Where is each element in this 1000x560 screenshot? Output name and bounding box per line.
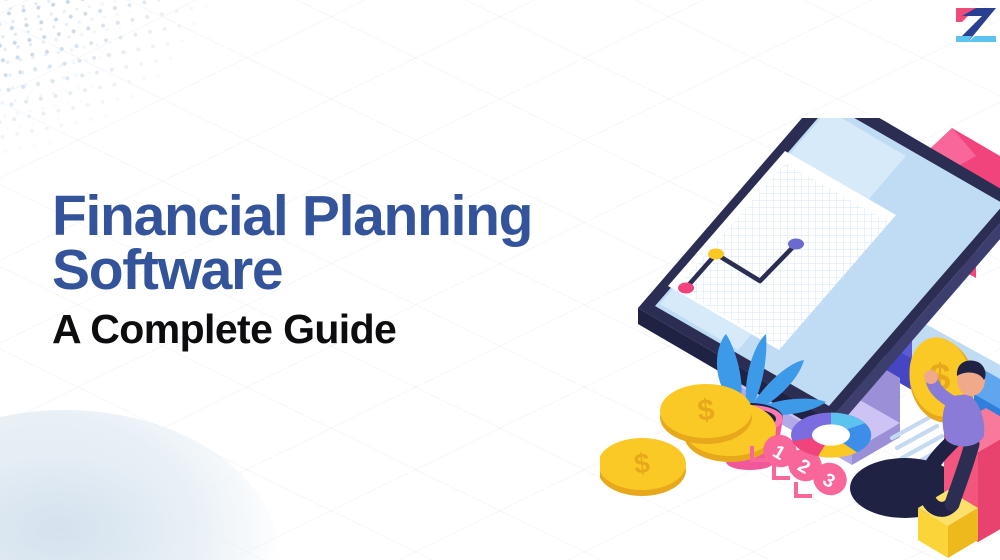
bar-pink [930,339,956,415]
svg-text:3: 3 [819,469,839,492]
bar-chart-panel [862,289,1000,448]
person-hair [957,361,986,380]
halftone-dot-pattern-secondary [0,0,183,156]
chart-node-purple [788,239,804,250]
svg-text:$: $ [720,411,740,446]
cube-yellow [918,490,978,558]
coin-stack: $ $ [660,384,776,462]
svg-text:$: $ [633,447,652,480]
chart-node-pink [678,283,694,294]
person-shirt [943,394,985,446]
chart-node-yellow [708,249,724,260]
person-hand [924,370,938,384]
report-lines [892,416,947,468]
bar-purple [886,314,912,390]
page-title-line2: Software [52,243,672,297]
block-pink [944,408,1000,542]
plant-pot [717,418,783,470]
page-title-line1: Financial Planning [52,189,672,243]
halftone-dot-pattern [0,0,242,173]
bar-blue [974,364,1000,440]
svg-text:$: $ [929,357,950,399]
person-head [957,364,985,396]
monitor-base-top [722,349,900,451]
monitor-screen [655,118,1000,406]
bottom-left-blob-inner [0,455,180,560]
z-mark-logo-icon [942,2,1000,52]
z-mark-logo[interactable] [942,2,1000,52]
page-subtitle: A Complete Guide [52,306,672,352]
svg-text:1: 1 [769,441,789,465]
line-chart-on-screen [668,151,896,350]
up-arrow-blue [840,166,918,308]
coin-single: $ [600,438,686,496]
coin-held: $ [902,332,982,429]
numbered-steps: 1 2 3 [752,429,853,502]
ground-shadow [850,458,960,518]
svg-text:$: $ [696,393,716,428]
monitor-frame [638,118,1000,420]
up-arrow-pink [916,128,1000,278]
svg-text:2: 2 [794,455,814,478]
donut-chart [791,413,871,458]
seated-person [924,361,986,510]
desktop-monitor [638,118,1000,465]
monitor-stand-column [852,350,900,430]
banner-root: Financial Planning Software A Complete G… [0,0,1000,560]
headline-block: Financial Planning Software A Complete G… [52,189,672,352]
potted-plant [682,334,826,470]
plant-soil [717,403,783,433]
bottom-left-blob [0,410,280,560]
